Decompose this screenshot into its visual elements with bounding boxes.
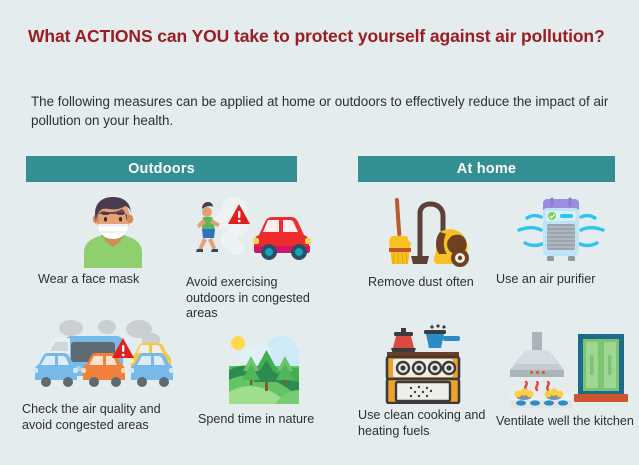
caption-avoid-exercising: Avoid exercising outdoors in congested a…	[186, 275, 326, 322]
green-landscape-icon	[198, 330, 328, 408]
caption-clean-fuels: Use clean cooking and heating fuels	[358, 408, 488, 439]
item-avoid-exercising: Avoid exercising outdoors in congested a…	[186, 196, 326, 322]
item-face-mask: Wear a face mask	[38, 196, 188, 288]
caption-air-purifier: Use an air purifier	[496, 272, 626, 288]
item-air-purifier: Use an air purifier	[496, 196, 626, 288]
traffic-congestion-icon	[22, 318, 187, 398]
range-hood-window-icon	[496, 330, 636, 410]
infographic-page: What ACTIONS can YOU take to protect you…	[0, 0, 639, 465]
caption-remove-dust: Remove dust often	[368, 275, 488, 291]
runner-car-exhaust-icon	[186, 196, 326, 271]
caption-ventilate-kitchen: Ventilate well the kitchen	[496, 414, 636, 430]
item-spend-time-nature: Spend time in nature	[198, 330, 328, 428]
air-purifier-icon	[496, 196, 626, 268]
item-remove-dust: Remove dust often	[368, 196, 488, 291]
person-face-mask-icon	[38, 196, 188, 268]
item-air-quality: Check the air quality and avoid congeste…	[22, 318, 187, 433]
page-title: What ACTIONS can YOU take to protect you…	[28, 26, 628, 47]
caption-spend-time-nature: Spend time in nature	[198, 412, 328, 428]
item-ventilate-kitchen: Ventilate well the kitchen	[496, 330, 636, 430]
cooking-stove-icon	[358, 322, 488, 404]
caption-face-mask: Wear a face mask	[38, 272, 188, 288]
caption-air-quality: Check the air quality and avoid congeste…	[22, 402, 187, 433]
intro-paragraph: The following measures can be applied at…	[31, 92, 611, 130]
broom-vacuum-icon	[368, 196, 488, 271]
item-clean-fuels: Use clean cooking and heating fuels	[358, 322, 488, 439]
column-header-at-home: At home	[358, 156, 615, 182]
column-header-outdoors: Outdoors	[26, 156, 297, 182]
